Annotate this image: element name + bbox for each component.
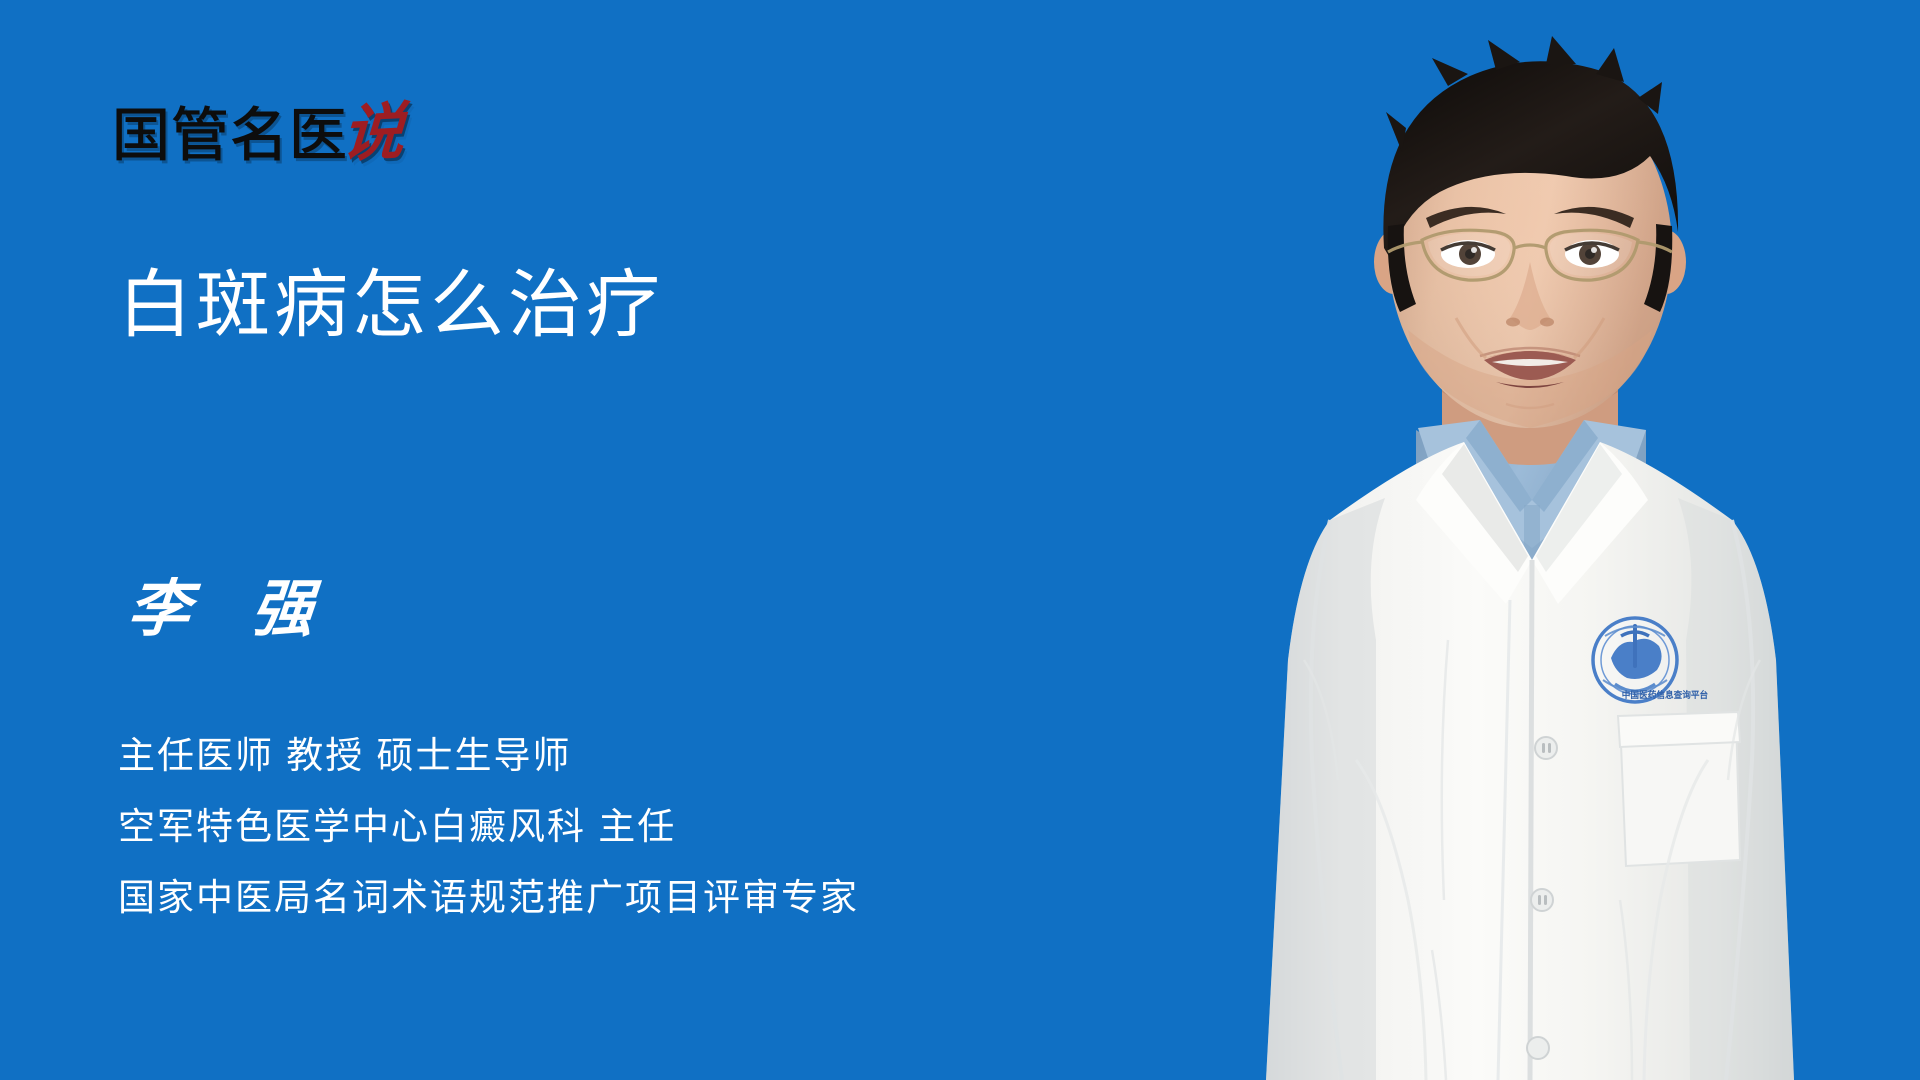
logo-accent-text: 说	[340, 100, 406, 165]
logo-main-text: 国管名医	[112, 106, 348, 164]
doctor-credentials: 主任医师 教授 硕士生导师 空军特色医学中心白癜风科 主任 国家中医局名词术语规…	[118, 736, 859, 918]
doctor-portrait-photo	[1180, 0, 1920, 1080]
episode-title: 白斑病怎么治疗	[118, 262, 664, 348]
credential-line-3: 国家中医局名词术语规范推广项目评审专家	[118, 878, 859, 917]
info-panel: 国管名医 说 白斑病怎么治疗 李 强 主任医师 教授 硕士生导师 空军特色医学中…	[0, 0, 1000, 1080]
credential-line-1: 主任医师 教授 硕士生导师	[118, 736, 859, 775]
coat-badge-caption: 中国医药信息查询平台	[1604, 688, 1727, 701]
video-frame: 中国医药信息查询平台 国管名医 说 白斑病怎么治疗 李 强 主任医师 教授 硕士…	[0, 0, 1920, 1080]
program-logo: 国管名医 说	[112, 92, 404, 164]
doctor-name: 李 强	[125, 578, 336, 640]
credential-line-2: 空军特色医学中心白癜风科 主任	[118, 807, 859, 846]
